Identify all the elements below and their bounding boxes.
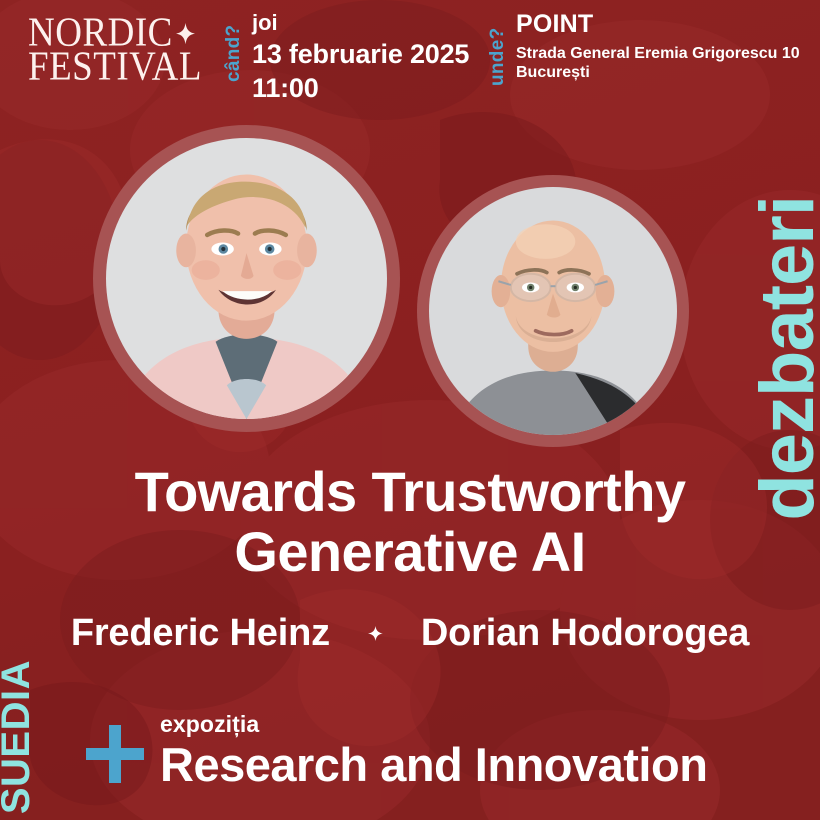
exhibition-title: Research and Innovation xyxy=(160,741,707,788)
where-label: unde? xyxy=(488,10,507,86)
four-point-star-icon xyxy=(176,23,195,44)
exhibition-block: expoziția Research and Innovation xyxy=(84,713,707,788)
plus-icon xyxy=(84,723,146,785)
four-point-star-icon xyxy=(368,626,383,641)
when-date: 13 februarie 2025 xyxy=(252,37,469,71)
when-block: când? joi 13 februarie 2025 11:00 xyxy=(224,9,469,106)
logo-line-2: FESTIVAL xyxy=(28,48,202,86)
headline-line-1: Towards Trustworthy xyxy=(135,460,686,523)
portrait-frederic-heinz xyxy=(106,138,387,419)
when-label: când? xyxy=(224,10,243,82)
side-label-suedia: SUEDIA xyxy=(0,660,35,814)
speaker-name-2: Dorian Hodorogea xyxy=(421,612,749,655)
where-venue: POINT xyxy=(516,9,800,40)
when-time: 11:00 xyxy=(252,71,469,105)
portrait-dorian-hodorogea xyxy=(429,187,677,435)
nordic-festival-logo: NORDIC FESTIVAL xyxy=(28,14,202,82)
speaker-name-1: Frederic Heinz xyxy=(71,612,330,655)
where-block: unde? POINT Strada General Eremia Grigor… xyxy=(488,9,800,86)
speaker-names: Frederic Heinz Dorian Hodorogea xyxy=(0,612,820,655)
poster-header: NORDIC FESTIVAL când? joi 13 februarie 2… xyxy=(0,0,820,120)
where-address-line-1: Strada General Eremia Grigorescu 10 xyxy=(516,44,800,64)
side-label-dezbateri: dezbateri xyxy=(752,196,820,521)
event-poster: NORDIC FESTIVAL când? joi 13 februarie 2… xyxy=(0,0,820,820)
page-title: Towards Trustworthy Generative AI xyxy=(0,462,820,583)
when-day: joi xyxy=(252,9,469,37)
exhibition-kicker: expoziția xyxy=(160,713,707,736)
headline-line-2: Generative AI xyxy=(70,522,750,582)
where-address-line-2: București xyxy=(516,63,800,83)
